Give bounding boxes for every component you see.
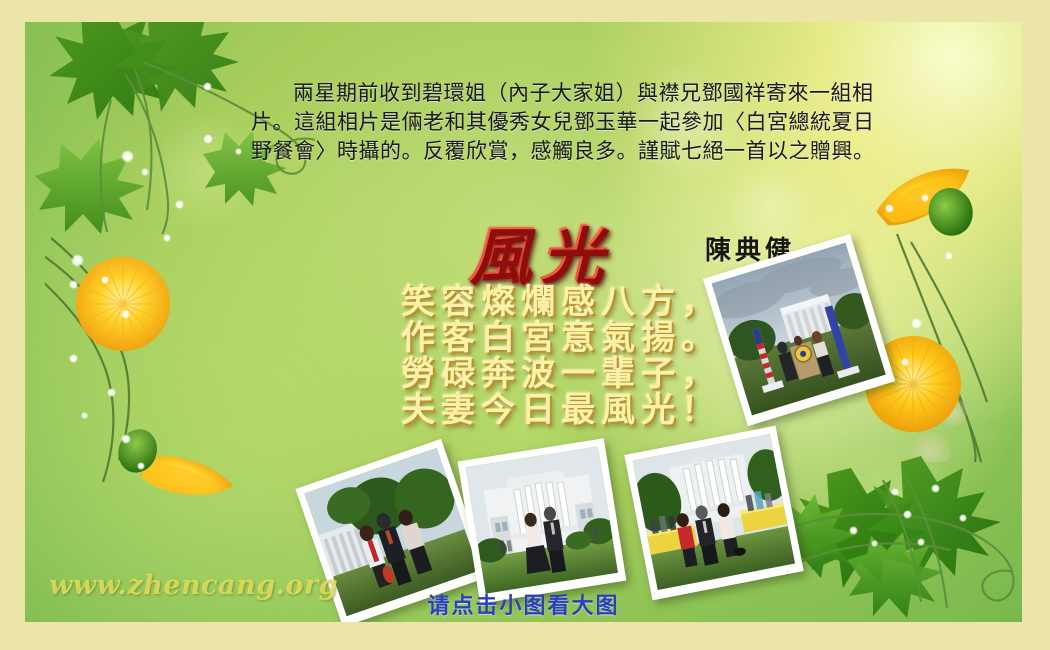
bokeh-blob	[85, 352, 265, 532]
sparkle-dot	[885, 204, 894, 213]
bokeh-blob	[145, 112, 265, 232]
sparkle-dot	[71, 254, 84, 267]
sparkle-dot	[137, 462, 145, 470]
sparkle-dot	[959, 514, 967, 522]
artwork-canvas: 兩星期前收到碧環姐（內子大家姐）與襟兄鄧國祥寄來一組相片。這組相片是倆老和其優秀…	[25, 22, 1022, 622]
sparkle-dot	[203, 82, 212, 91]
poem-line: 夫妻今日最風光！	[401, 392, 721, 428]
poem-body: 笑容燦爛感八方， 作客白宮意氣揚。 勞碌奔波一輩子， 夫妻今日最風光！	[401, 284, 721, 428]
sparkle-dot	[903, 510, 912, 519]
intro-paragraph: 兩星期前收到碧環姐（內子大家姐）與襟兄鄧國祥寄來一組相片。這組相片是倆老和其優秀…	[251, 79, 891, 166]
sparkle-dot	[871, 540, 878, 547]
sparkle-dot	[175, 200, 184, 209]
sparkle-dot	[945, 252, 953, 260]
sparkle-dot	[69, 354, 78, 363]
sparkle-dot	[235, 148, 242, 155]
sparkle-dot	[921, 194, 929, 202]
sparkle-dot	[917, 538, 925, 546]
sparkle-dot	[107, 388, 116, 397]
photo-couple-south-portico	[466, 446, 618, 593]
sparkle-dot	[911, 318, 922, 329]
sparkle-dot	[121, 310, 130, 319]
sparkle-dot	[141, 168, 149, 176]
sparkle-dot	[69, 280, 78, 289]
sparkle-dot	[849, 526, 858, 535]
sparkle-dot	[891, 488, 899, 496]
sparkle-dot	[203, 134, 213, 144]
sparkle-dot	[163, 234, 171, 242]
sparkle-dot	[101, 276, 109, 284]
greeting-card: 兩星期前收到碧環姐（內子大家姐）與襟兄鄧國祥寄來一組相片。這組相片是倆老和其優秀…	[0, 0, 1050, 650]
poem-line: 笑容燦爛感八方，	[401, 284, 721, 320]
site-watermark: www.zhencang.org	[49, 570, 338, 601]
poem-line: 作客白宮意氣揚。	[401, 320, 721, 356]
photo-picnic-seated	[633, 434, 796, 590]
photo-white-house-podium	[712, 243, 886, 416]
sparkle-dot	[931, 484, 940, 493]
poem-line: 勞碌奔波一輩子，	[401, 356, 721, 392]
sparkle-dot	[81, 412, 88, 419]
bokeh-blob	[825, 442, 965, 582]
sparkle-dot	[121, 150, 134, 163]
sparkle-dot	[901, 358, 909, 366]
photo-thumbnail[interactable]	[458, 438, 627, 603]
sparkle-dot	[121, 434, 131, 444]
photo-thumbnail[interactable]	[624, 426, 803, 601]
dandelion-left	[45, 232, 275, 502]
